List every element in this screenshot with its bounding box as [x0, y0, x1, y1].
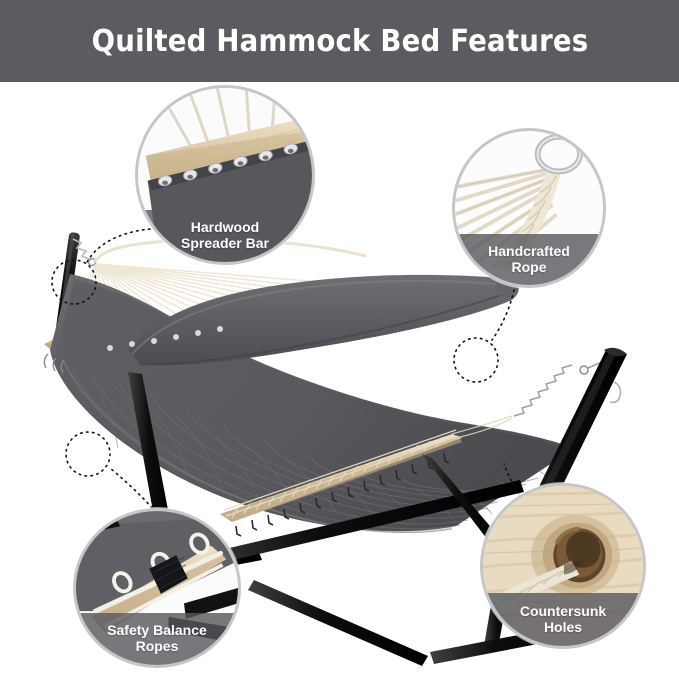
- page-title: Quilted Hammock Bed Features: [91, 24, 588, 59]
- callout-hardwood-spreader-bar-label: Hardwood Spreader Bar: [138, 210, 312, 262]
- header-bar: Quilted Hammock Bed Features: [0, 0, 679, 82]
- callout-2-line-2: Rope: [512, 259, 547, 275]
- callout-3-line-1: Safety Balance: [107, 622, 207, 638]
- callout-handcrafted-rope-label: Handcrafted Rope: [455, 234, 603, 285]
- callout-handcrafted-rope[interactable]: Handcrafted Rope: [452, 128, 606, 288]
- callout-1-line-2: Spreader Bar: [181, 235, 269, 251]
- callout-4-line-2: Holes: [544, 619, 582, 635]
- infographic-canvas: Quilted Hammock Bed Features: [0, 0, 679, 677]
- callout-2-line-1: Handcrafted: [488, 243, 570, 259]
- callout-4-line-1: Countersunk: [520, 603, 606, 619]
- hammock-pillow: [128, 275, 519, 365]
- callout-3-line-2: Ropes: [136, 638, 179, 654]
- callout-safety-balance-ropes-label: Safety Balance Ropes: [76, 613, 238, 665]
- callout-safety-balance-ropes[interactable]: Safety Balance Ropes: [73, 508, 241, 668]
- callout-countersunk-holes[interactable]: Countersunk Holes: [480, 483, 646, 649]
- callout-countersunk-holes-label: Countersunk Holes: [483, 593, 643, 646]
- callout-hardwood-spreader-bar[interactable]: Hardwood Spreader Bar: [135, 85, 315, 265]
- callout-1-line-1: Hardwood: [191, 219, 259, 235]
- product-scene: Hardwood Spreader Bar: [0, 82, 679, 677]
